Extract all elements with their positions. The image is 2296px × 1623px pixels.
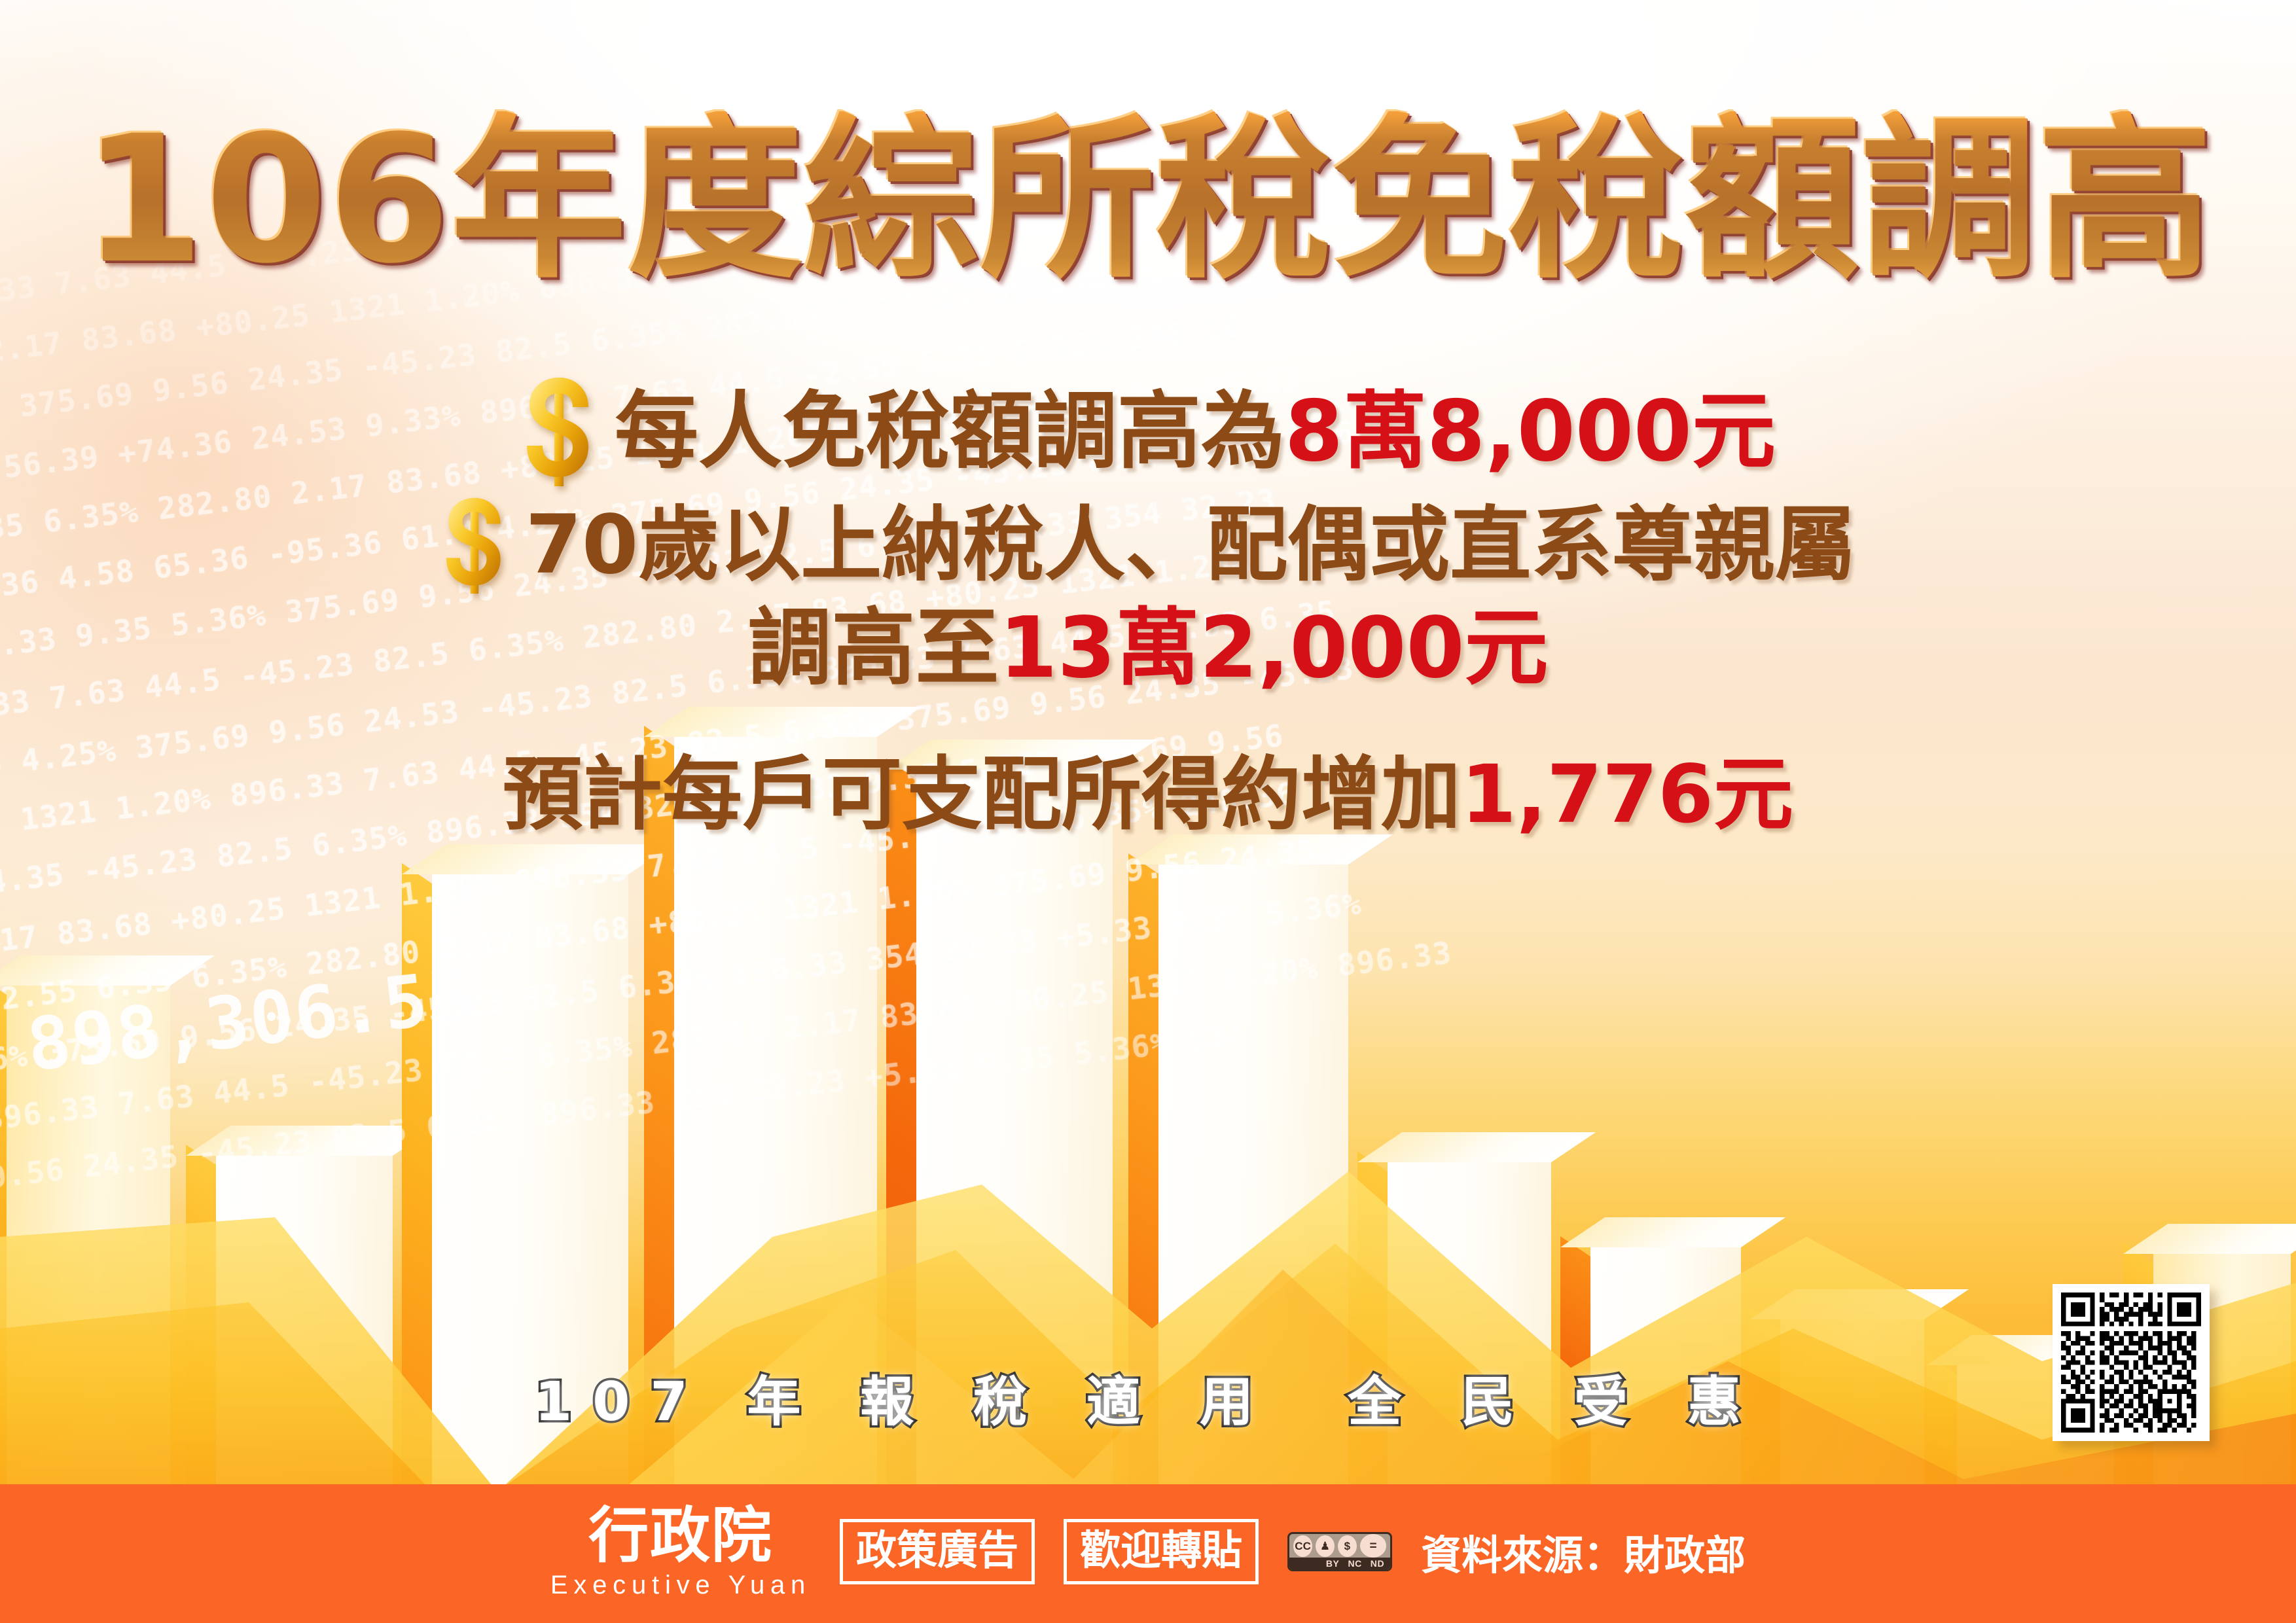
cc-by-label: BY (1326, 1558, 1340, 1569)
bullet-line-4: 預計每戶可支配所得約增加1,776元 (0, 743, 2296, 847)
agency-name-en: Executive Yuan (550, 1572, 811, 1598)
bullet-line-2: 70歲以上納稅人、配偶或直系尊親屬 (0, 493, 2296, 598)
title-block: 106年度綜所稅免稅額調高 (0, 111, 2296, 290)
bullet-list: 每人免稅額調高為8萬8,000元 70歲以上納稅人、配偶或直系尊親屬 調高至13… (0, 376, 2296, 851)
qr-code-image (2061, 1293, 2201, 1433)
data-source-label: 資料來源：財政部 (1421, 1522, 1746, 1581)
cc-nc-label: NC (1348, 1558, 1361, 1569)
bullet-line-3: 調高至13萬2,000元 (0, 594, 2296, 703)
tagline-block: 107 年 報 稅 適 用 全 民 受 惠 (0, 1358, 2296, 1436)
footer-bar: 行政院 Executive Yuan 政策廣告 歡迎轉貼 CC ♟ $ = BY… (0, 1484, 2296, 1623)
cc-nd-label: ND (1371, 1558, 1384, 1569)
share-welcome-badge: 歡迎轉貼 (1064, 1519, 1259, 1584)
bullet-line-4-text: 預計每戶可支配所得約增加1,776元 (503, 743, 1793, 847)
dollar-sign-icon (520, 376, 598, 488)
policy-ad-badge: 政策廣告 (840, 1519, 1035, 1584)
bullet-line-3-text: 調高至13萬2,000元 (747, 594, 1548, 703)
executive-yuan-logo: 行政院 Executive Yuan (550, 1505, 811, 1598)
bullet-line-2-text: 70歲以上納稅人、配偶或直系尊親屬 (526, 493, 1856, 598)
qr-code[interactable] (2053, 1284, 2210, 1441)
agency-name-cn: 行政院 (588, 1505, 773, 1565)
dollar-sign-icon (440, 497, 509, 595)
tagline-text: 107 年 報 稅 適 用 全 民 受 惠 (535, 1371, 1761, 1433)
person-icon: ♟ (1316, 1535, 1335, 1557)
bullet-line-1-text: 每人免稅額調高為8萬8,000元 (615, 378, 1776, 486)
poster-title: 106年度綜所稅免稅額調高 (82, 111, 2214, 290)
creative-commons-badge[interactable]: CC ♟ $ = BY NC ND (1287, 1532, 1392, 1571)
bullet-line-1: 每人免稅額調高為8萬8,000元 (0, 376, 2296, 488)
cc-icon: CC (1293, 1535, 1312, 1557)
no-commercial-icon: $ (1338, 1535, 1357, 1557)
poster-canvas: 6.35% 896.33 7.63 44.5 -45.23 82.5 6.35%… (0, 0, 2296, 1623)
no-derivatives-icon: = (1360, 1534, 1386, 1558)
